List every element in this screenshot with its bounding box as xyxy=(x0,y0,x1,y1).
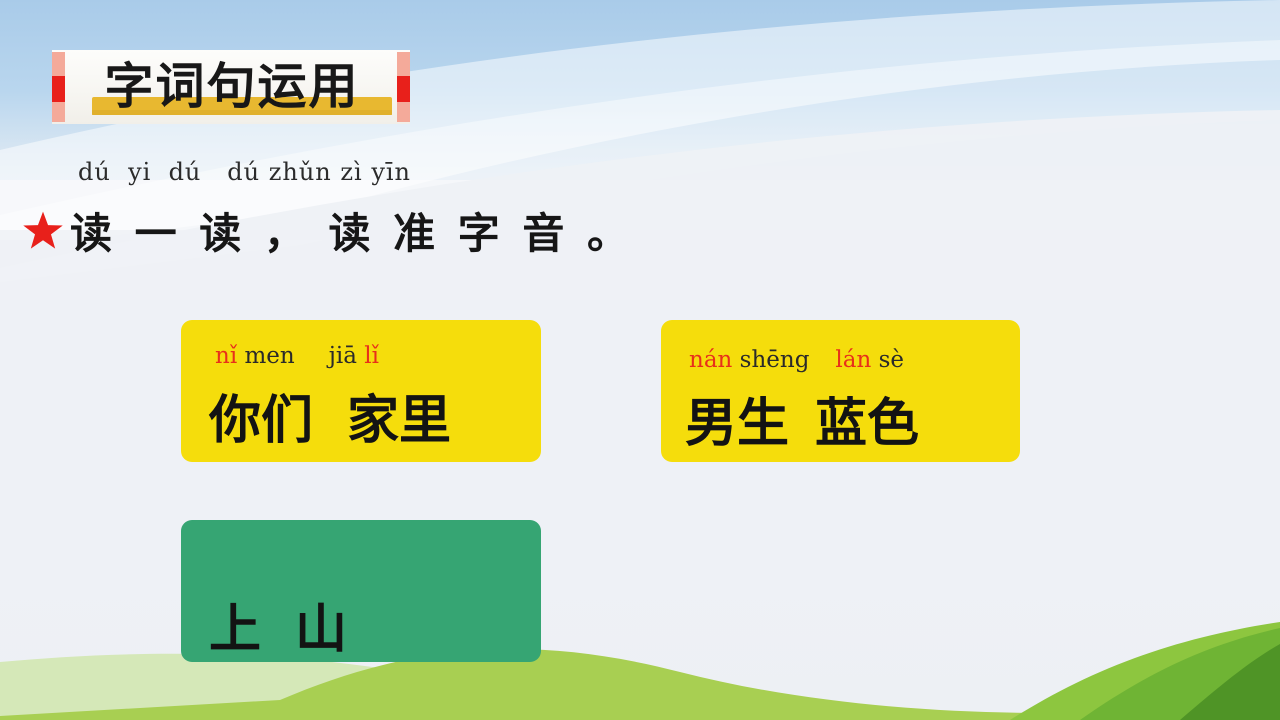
word-card-nan-sheng[interactable]: nán shēnglán sè 男生蓝色 xyxy=(661,320,1020,462)
card-pinyin-row xyxy=(181,528,575,584)
pinyin-plain: shēng xyxy=(732,347,809,373)
pinyin-plain: sè xyxy=(871,347,904,373)
pinyin-group: nán shēng xyxy=(689,347,809,373)
pinyin-plain: jiā xyxy=(329,343,365,369)
hanzi-word: 男生 xyxy=(685,381,789,456)
hanzi-word: 山 xyxy=(295,587,347,662)
pinyin-accent: lǐ xyxy=(364,343,379,369)
pinyin-group: lán sè xyxy=(835,347,904,373)
instruction-block: dú yi dú dú zhǔn zì yīn 读 一 读 ， 读 准 字 音 … xyxy=(22,158,662,268)
page-title: 字词句运用 xyxy=(74,53,390,121)
pinyin-group: jiā lǐ xyxy=(329,343,379,369)
pinyin-group: nǐ men xyxy=(215,343,295,369)
pinyin-accent: nǐ xyxy=(215,343,237,369)
pinyin-plain: men xyxy=(237,343,295,369)
card-hanzi-row: 上山 xyxy=(181,586,569,662)
hanzi-word: 蓝色 xyxy=(815,381,919,456)
slide-canvas: 字词句运用 dú yi dú dú zhǔn zì yīn 读 一 读 ， 读 … xyxy=(0,0,1280,720)
title-banner: 字词句运用 xyxy=(52,50,410,124)
pinyin-accent: nán xyxy=(689,347,732,373)
title-bar-right-icon xyxy=(397,52,410,122)
word-card-shang-shan[interactable]: 上山 xyxy=(181,520,541,662)
title-bar-left-icon xyxy=(52,52,65,122)
card-hanzi-row: 男生蓝色 xyxy=(661,378,1044,458)
instruction-pinyin: dú yi dú dú zhǔn zì yīn xyxy=(78,158,411,186)
red-star-icon xyxy=(22,210,64,252)
pinyin-accent: lán xyxy=(835,347,871,373)
hanzi-word: 上 xyxy=(209,587,261,662)
instruction-text: 读 一 读 ， 读 准 字 音 。 xyxy=(70,200,633,261)
word-card-ni-men[interactable]: nǐ menjiā lǐ 你们家里 xyxy=(181,320,541,462)
hanzi-word: 你们 xyxy=(209,378,313,453)
hanzi-word: 家里 xyxy=(347,378,451,453)
card-hanzi-row: 你们家里 xyxy=(181,375,569,455)
